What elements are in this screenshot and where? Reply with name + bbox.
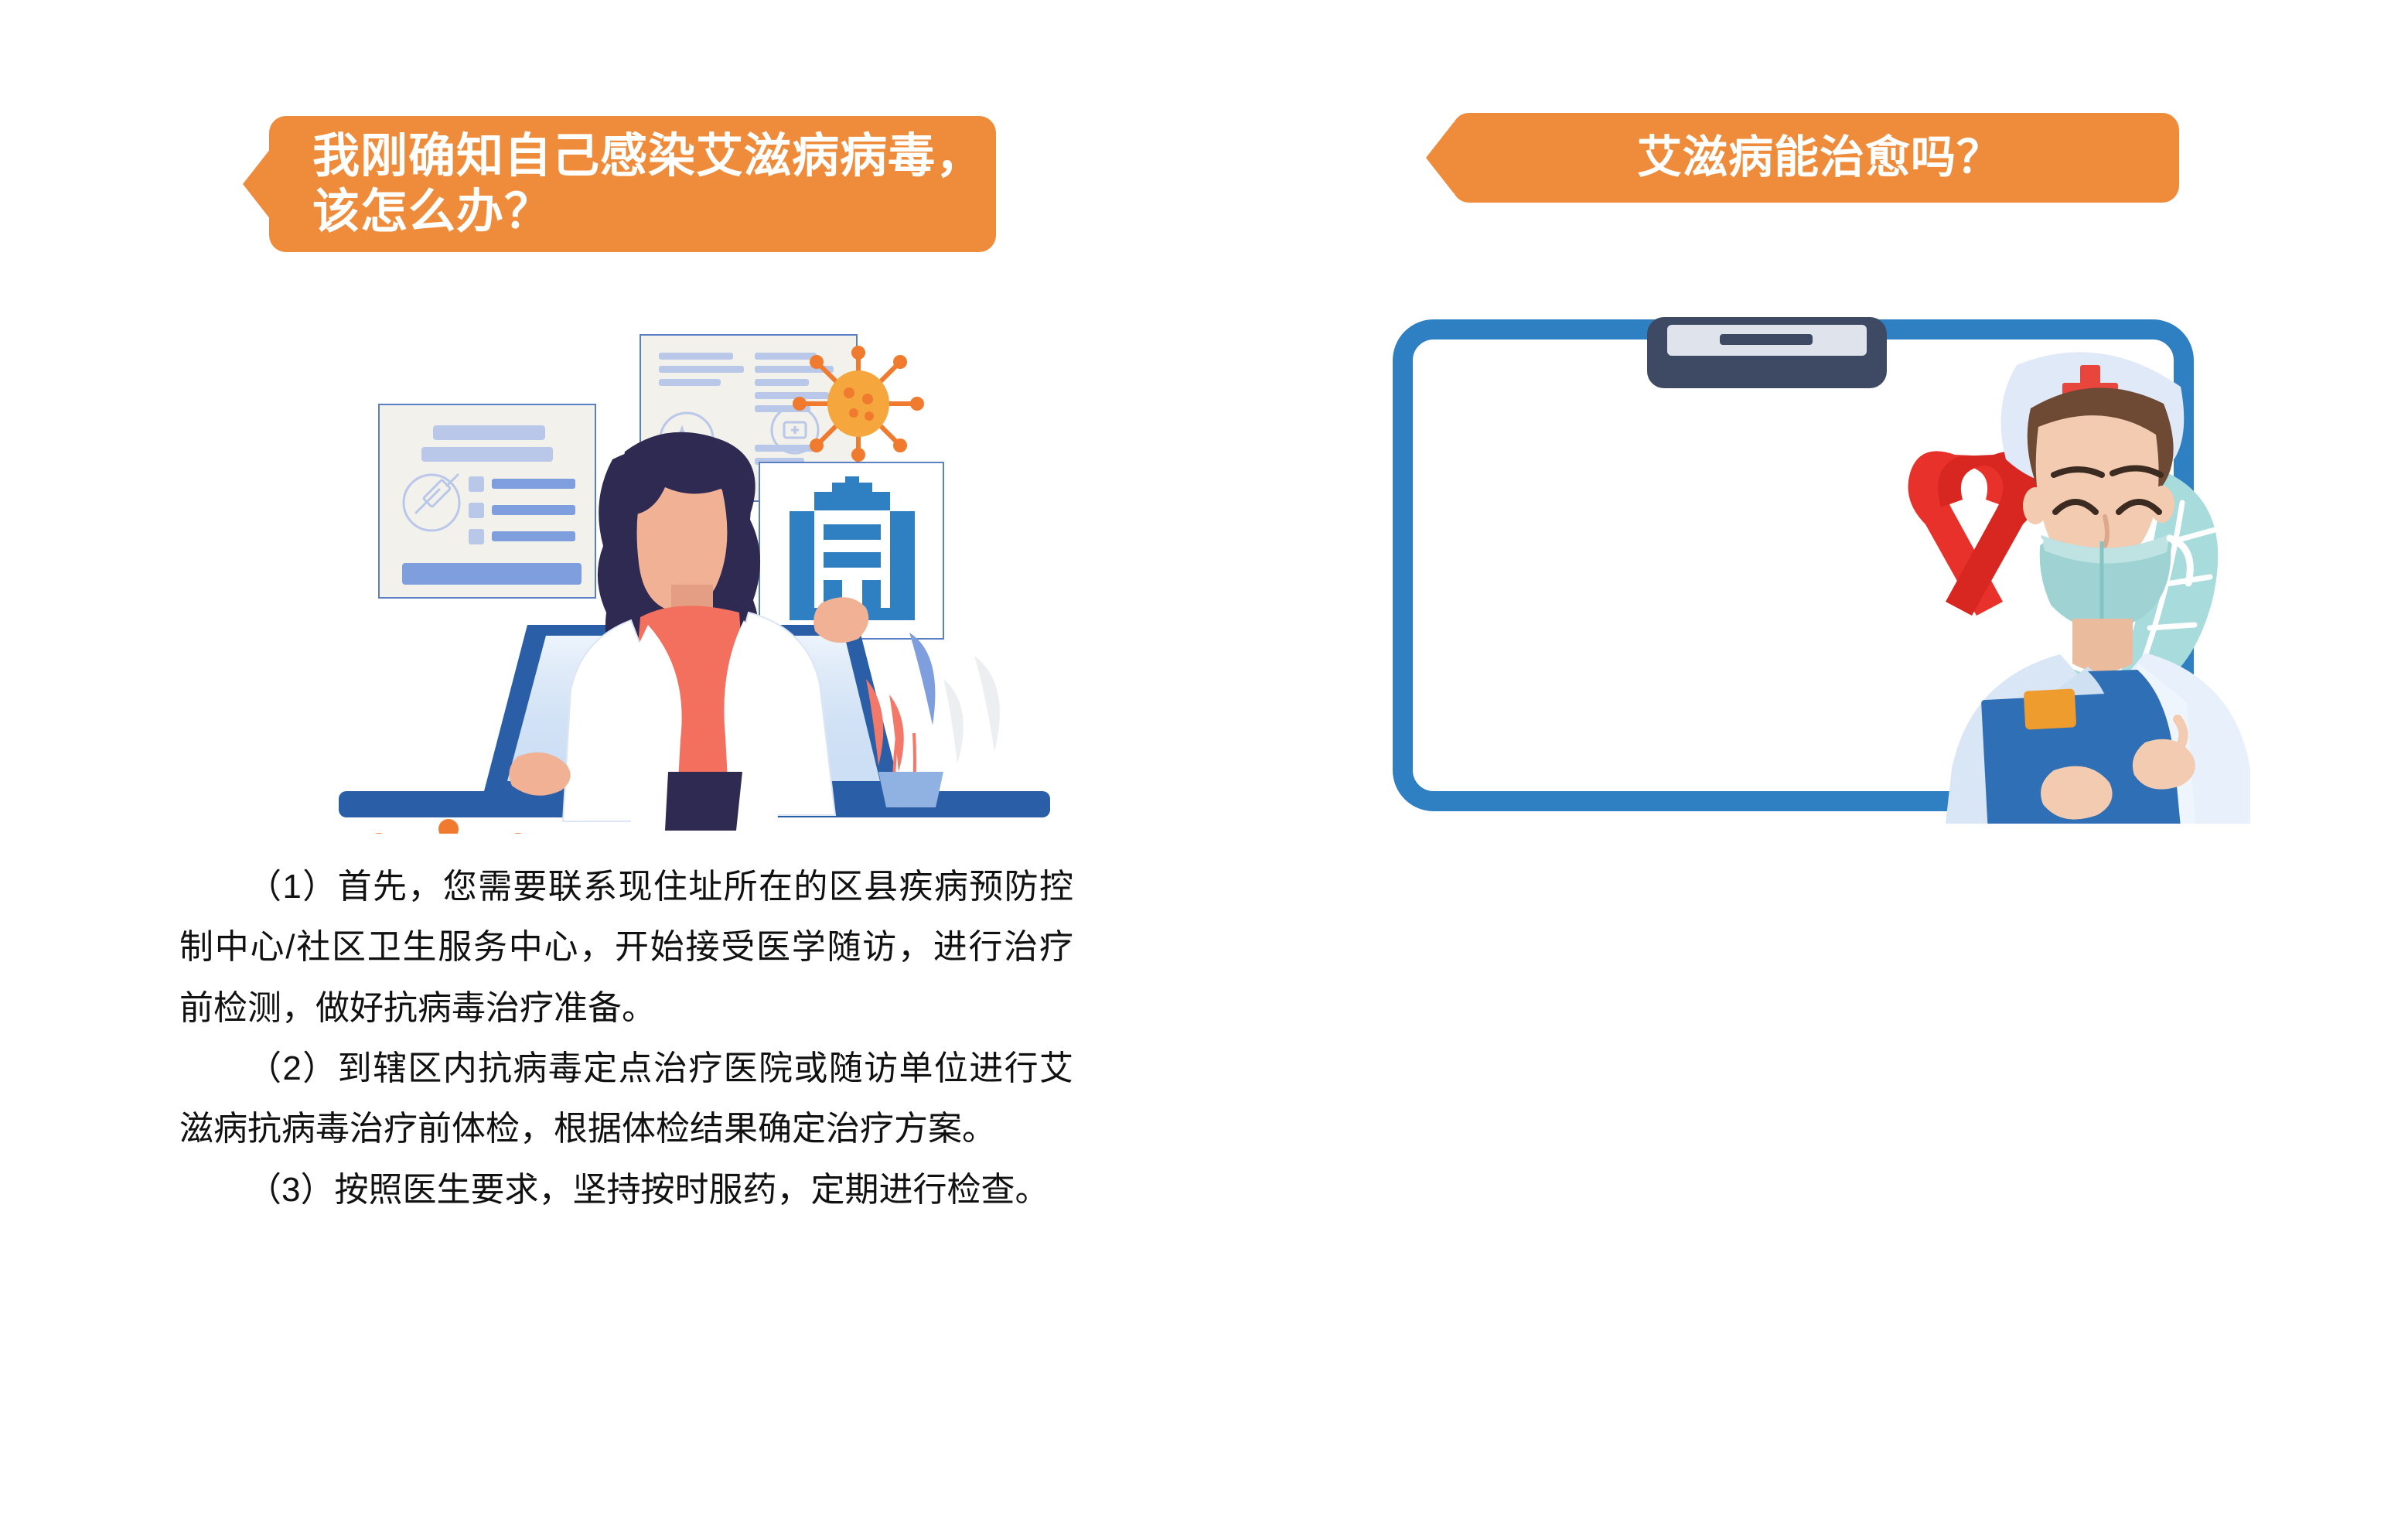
brochure-page: 我刚确知自己感染艾滋病病毒， 该怎么办？	[0, 0, 2408, 1515]
banner-question-13-wrap: 艾滋病能治愈吗？	[1452, 113, 2179, 203]
column-question-12: 我刚确知自己感染艾滋病病毒， 该怎么办？	[0, 0, 1204, 1515]
banner-question-12-title: 我刚确知自己感染艾滋病病毒， 该怎么办？	[312, 128, 984, 240]
potted-plant-icon	[866, 633, 1000, 807]
doctor-at-laptop-illustration	[325, 292, 1052, 834]
paragraph-2: （2）到辖区内抗病毒定点治疗医院或随访单位进行艾滋病抗病毒治疗前体检，根据体检结…	[179, 1039, 1073, 1160]
red-awareness-ribbon-icon	[1908, 451, 2041, 616]
coronavirus-particle-large-icon	[344, 819, 553, 834]
coronavirus-particle-small-icon	[793, 346, 924, 462]
banner-question-13: 艾滋病能治愈吗？	[1452, 113, 2179, 203]
paragraph-3: （3）按照医生要求，坚持按时服药，定期进行检查。	[179, 1160, 1073, 1220]
banner-ribbon-notch-icon	[243, 148, 271, 220]
banner-ribbon-notch-icon	[1426, 122, 1454, 193]
column-question-13: 艾滋病能治愈吗？	[1204, 0, 2408, 1515]
paragraph-1: （1）首先，您需要联系现住址所在的区县疾病预防控制中心/社区卫生服务中心，开始接…	[179, 857, 1073, 1039]
body-copy-question-12: （1）首先，您需要联系现住址所在的区县疾病预防控制中心/社区卫生服务中心，开始接…	[179, 857, 1073, 1220]
clipboard-metal-clip-icon	[1647, 317, 1887, 388]
nurse-with-clipboard-illustration	[1392, 309, 2250, 824]
medical-record-card-syringe-icon	[379, 404, 595, 598]
banner-question-13-title: 艾滋病能治愈吗？	[1496, 131, 2179, 184]
banner-question-12-wrap: 我刚确知自己感染艾滋病病毒， 该怎么办？	[269, 116, 996, 252]
banner-question-12: 我刚确知自己感染艾滋病病毒， 该怎么办？	[269, 116, 996, 252]
